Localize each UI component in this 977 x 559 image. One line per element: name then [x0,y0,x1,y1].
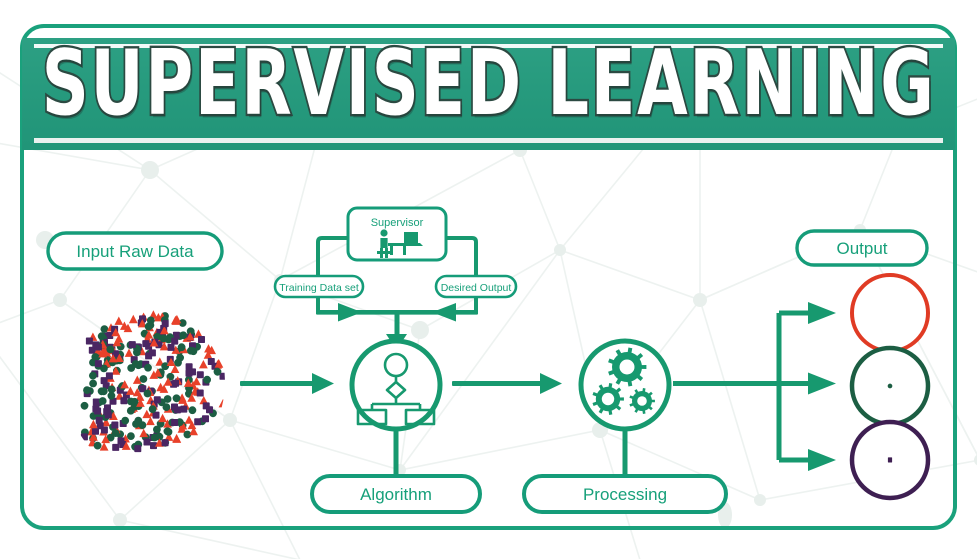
training-data-set-pill[interactable]: Training Data set [275,276,363,297]
arrow-algorithm-to-processing [452,373,562,394]
processing-pill[interactable]: Processing [524,476,726,512]
desired-output-pill[interactable]: Desired Output [436,276,516,297]
processing-label: Processing [583,485,667,504]
output-class-square[interactable] [852,422,928,498]
algorithm-pill[interactable]: Algorithm [312,476,480,512]
output-pill[interactable]: Output [797,231,927,265]
input-raw-data-label: Input Raw Data [76,242,194,261]
infographic-canvas: SUPERVISED LEARNING Input Raw Data Supe [0,0,977,559]
input-raw-data-pill[interactable]: Input Raw Data [48,233,222,269]
supervisor-box[interactable]: Supervisor [348,208,446,260]
output-class-triangle[interactable] [852,275,928,351]
algorithm-label: Algorithm [360,485,432,504]
arrow-processing-to-outputs [673,302,836,471]
desired-output-label: Desired Output [441,282,512,294]
raw-data-scatter-cloud [81,310,228,452]
output-class-circle[interactable] [852,348,928,424]
training-data-set-label: Training Data set [279,282,359,294]
arrow-input-to-algorithm [240,373,334,394]
processing-node[interactable] [581,341,669,479]
output-label: Output [836,239,887,258]
supervisor-label: Supervisor [371,217,424,229]
supervised-learning-diagram: Input Raw Data Supervisor [0,0,977,559]
algorithm-node[interactable] [352,341,440,479]
